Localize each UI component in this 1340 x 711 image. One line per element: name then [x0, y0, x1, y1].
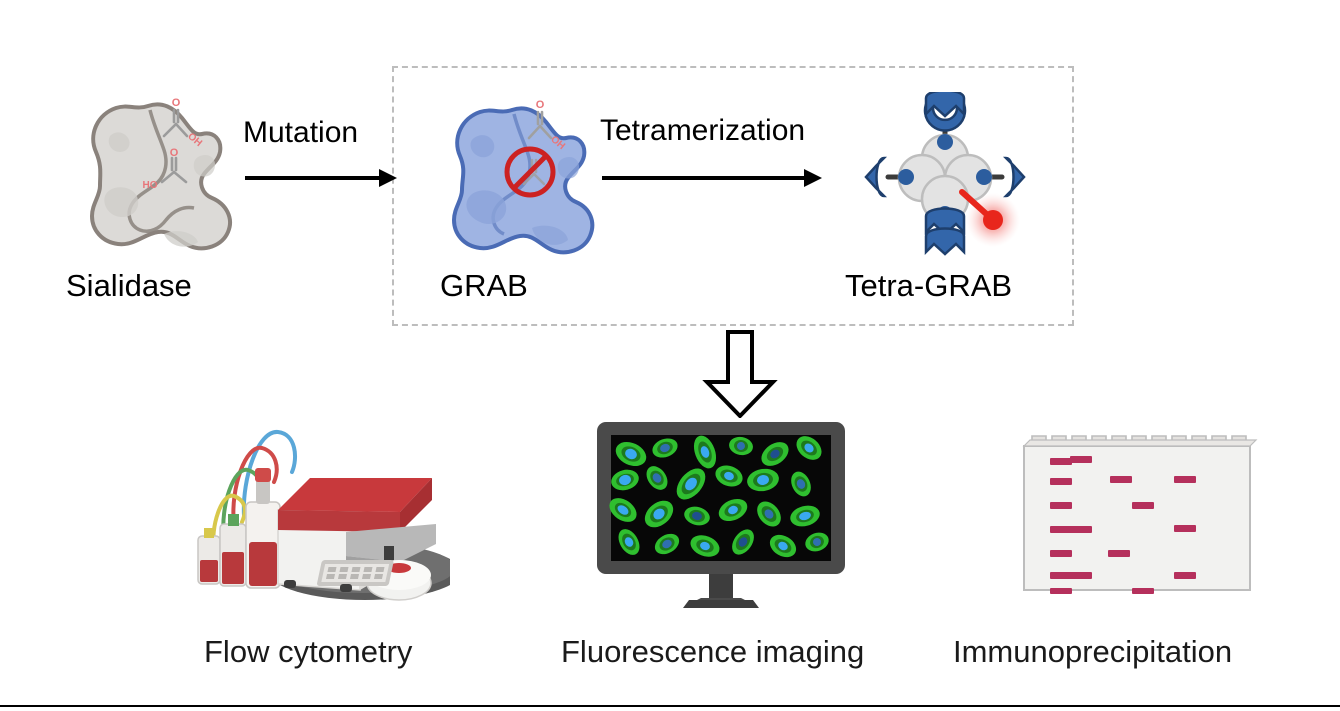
svg-text:HO: HO: [143, 180, 158, 191]
mutation-arrow-icon: [243, 165, 399, 191]
immunoprecipitation-label: Immunoprecipitation: [953, 634, 1232, 670]
bottom-divider-rule: [0, 705, 1340, 707]
sialidase-illustration: O OH O HO: [54, 78, 264, 268]
fluorescence-monitor-illustration: [593, 418, 863, 613]
down-arrow-icon: [697, 330, 783, 418]
grab-label: GRAB: [440, 268, 528, 304]
svg-text:O: O: [170, 147, 179, 159]
tetramerization-arrow-icon: [600, 165, 824, 191]
immunoprecipitation-gel-illustration: [1018, 432, 1262, 597]
mutation-arrow-label: Mutation: [243, 116, 358, 150]
tetra-grab-illustration: [850, 92, 1040, 262]
tetramerization-arrow-label: Tetramerization: [600, 114, 805, 148]
fluorescence-imaging-label: Fluorescence imaging: [561, 634, 864, 670]
svg-text:O: O: [172, 97, 181, 109]
flow-cytometry-label: Flow cytometry: [204, 634, 412, 670]
svg-text:O: O: [536, 99, 545, 111]
flow-cytometer-illustration: [150, 420, 450, 620]
grab-illustration: O OH: [432, 86, 612, 266]
tetra-grab-label: Tetra-GRAB: [845, 268, 1012, 304]
figure-canvas: O OH O HO Sialidase Mutation: [0, 0, 1340, 711]
sialidase-label: Sialidase: [66, 268, 192, 304]
